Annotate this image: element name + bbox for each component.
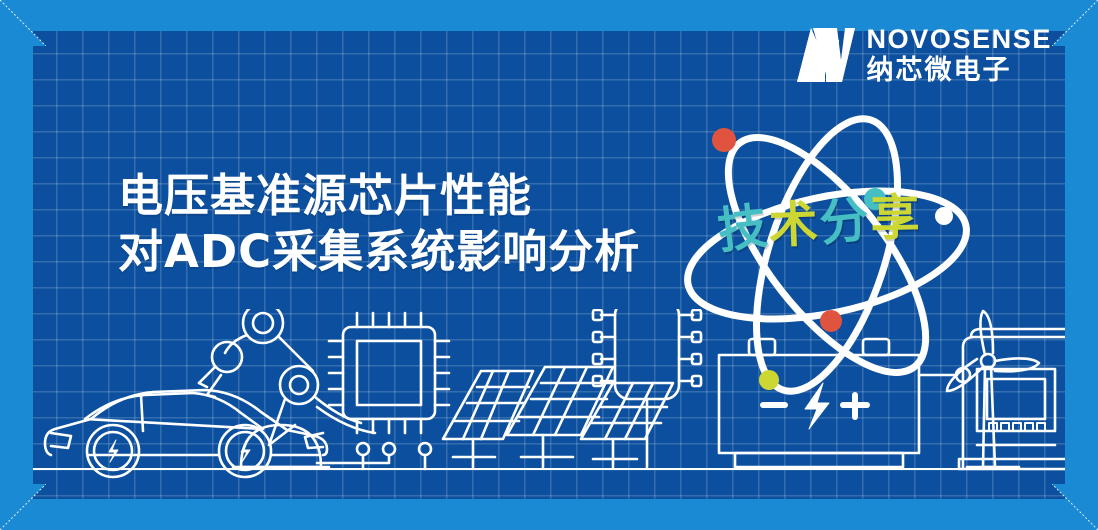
electron-white-right	[935, 207, 953, 225]
ev-charging-station	[959, 329, 1065, 469]
badge-char-1: 技	[715, 201, 772, 256]
status-badge: 技术分享	[716, 192, 923, 255]
badge-char-4: 享	[870, 193, 922, 243]
robot-arm	[199, 309, 375, 467]
banner-root: NOVOSENSE 纳芯微电子 电压基准源芯片性能 对ADC采集系统影响分析 技…	[0, 0, 1098, 530]
novosense-n-mark-icon	[795, 26, 857, 84]
logo-wordmark: NOVOSENSE 纳芯微电子	[867, 26, 1052, 84]
battery	[719, 339, 970, 467]
wind-turbine	[947, 311, 1039, 467]
badge-char-2: 术	[768, 200, 821, 251]
solar-panels	[443, 367, 673, 467]
logo-english-text: NOVOSENSE	[867, 26, 1052, 53]
badge-char-3: 分	[817, 195, 873, 249]
electron-red-upper-left	[712, 128, 736, 152]
novosense-logo: NOVOSENSE 纳芯微电子	[795, 26, 1052, 84]
page-title: 电压基准源芯片性能 对ADC采集系统影响分析	[118, 168, 640, 280]
logo-chinese-text: 纳芯微电子	[867, 57, 1052, 84]
illustration-scene	[33, 309, 1065, 499]
qfp-chip	[317, 313, 449, 469]
page-title-line-2: 对ADC采集系统影响分析	[118, 224, 640, 280]
page-title-line-1: 电压基准源芯片性能	[118, 168, 640, 224]
